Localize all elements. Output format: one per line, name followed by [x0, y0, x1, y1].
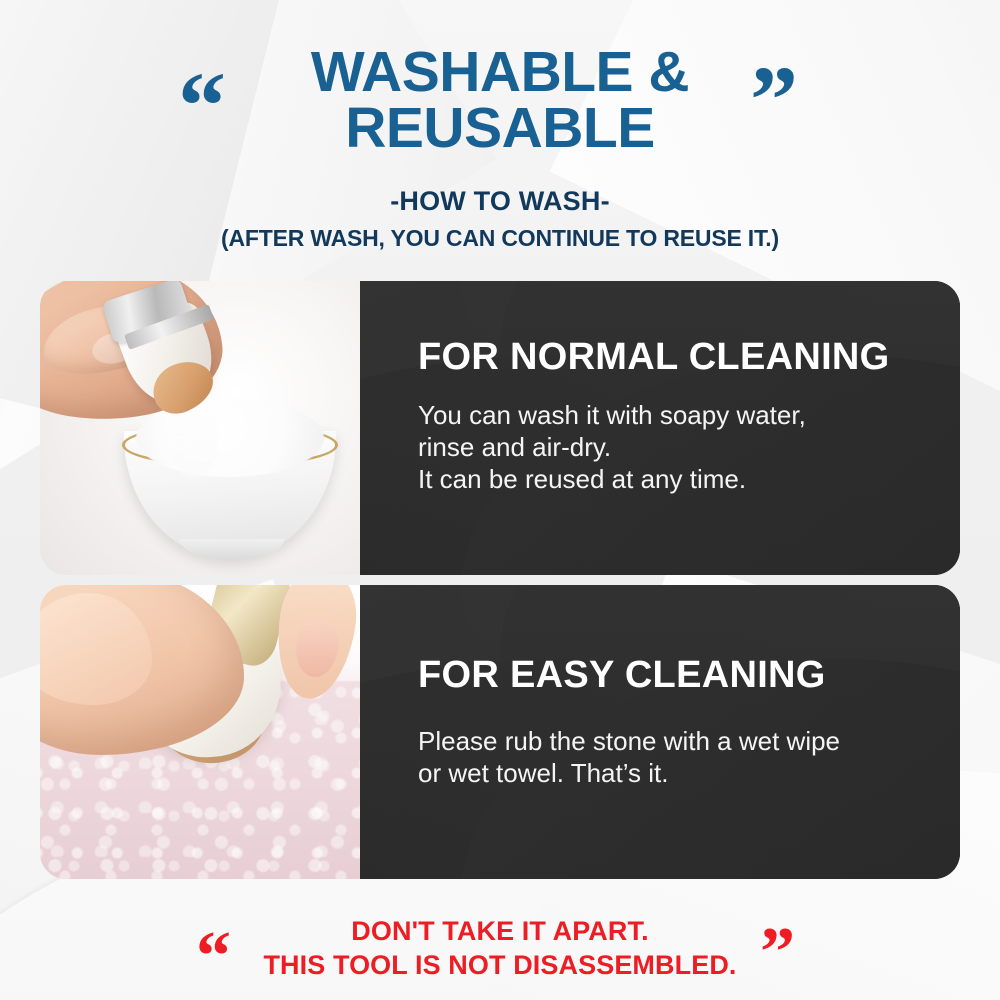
- photo-normal-cleaning: [40, 281, 360, 575]
- title-row: “ ” WASHABLE & REUSABLE: [0, 0, 1000, 156]
- card-panel: FOR NORMAL CLEANING You can wash it with…: [360, 281, 960, 575]
- card-body: You can wash it with soapy water, rinse …: [418, 399, 960, 495]
- page-title: WASHABLE & REUSABLE: [240, 44, 760, 156]
- page-title-line-2: REUSABLE: [345, 96, 655, 160]
- footer-quote-open-icon: “: [196, 936, 231, 978]
- card-panel: FOR EASY CLEANING Please rub the stone w…: [360, 585, 960, 879]
- footer-warning-line-2: THIS TOOL IS NOT DISASSEMBLED.: [263, 948, 736, 982]
- card-body-line-3: It can be reused at any time.: [418, 463, 960, 495]
- footer-warning: “ ” DON'T TAKE IT APART. THIS TOOL IS NO…: [0, 914, 1000, 982]
- card-body-line-1: Please rub the stone with a wet wipe: [418, 725, 960, 757]
- subtitle: -HOW TO WASH-: [0, 186, 1000, 217]
- footer-warning-text: DON'T TAKE IT APART. THIS TOOL IS NOT DI…: [263, 914, 736, 982]
- card-heading: FOR NORMAL CLEANING: [418, 337, 960, 377]
- subtitle-note: (AFTER WASH, YOU CAN CONTINUE TO REUSE I…: [0, 225, 1000, 252]
- header: “ ” WASHABLE & REUSABLE -HOW TO WASH- (A…: [0, 0, 1000, 252]
- card-body-line-1: You can wash it with soapy water,: [418, 399, 960, 431]
- page-title-line-1: WASHABLE &: [311, 40, 689, 104]
- card-heading: FOR EASY CLEANING: [418, 655, 960, 695]
- footer-warning-line-1: DON'T TAKE IT APART.: [263, 914, 736, 948]
- quote-close-icon: ”: [750, 70, 798, 130]
- instruction-card-normal-cleaning: FOR NORMAL CLEANING You can wash it with…: [40, 281, 960, 575]
- card-text-block: FOR NORMAL CLEANING You can wash it with…: [360, 281, 960, 495]
- infographic-page: “ ” WASHABLE & REUSABLE -HOW TO WASH- (A…: [0, 0, 1000, 1000]
- footer-quote-close-icon: ”: [760, 932, 795, 974]
- instruction-card-easy-cleaning: FOR EASY CLEANING Please rub the stone w…: [40, 585, 960, 879]
- photo-easy-cleaning: [40, 585, 360, 879]
- card-body: Please rub the stone with a wet wipe or …: [418, 725, 960, 789]
- quote-open-icon: “: [178, 76, 226, 136]
- card-body-line-2: rinse and air-dry.: [418, 431, 960, 463]
- card-text-block: FOR EASY CLEANING Please rub the stone w…: [360, 585, 960, 789]
- card-body-line-2: or wet towel. That’s it.: [418, 757, 960, 789]
